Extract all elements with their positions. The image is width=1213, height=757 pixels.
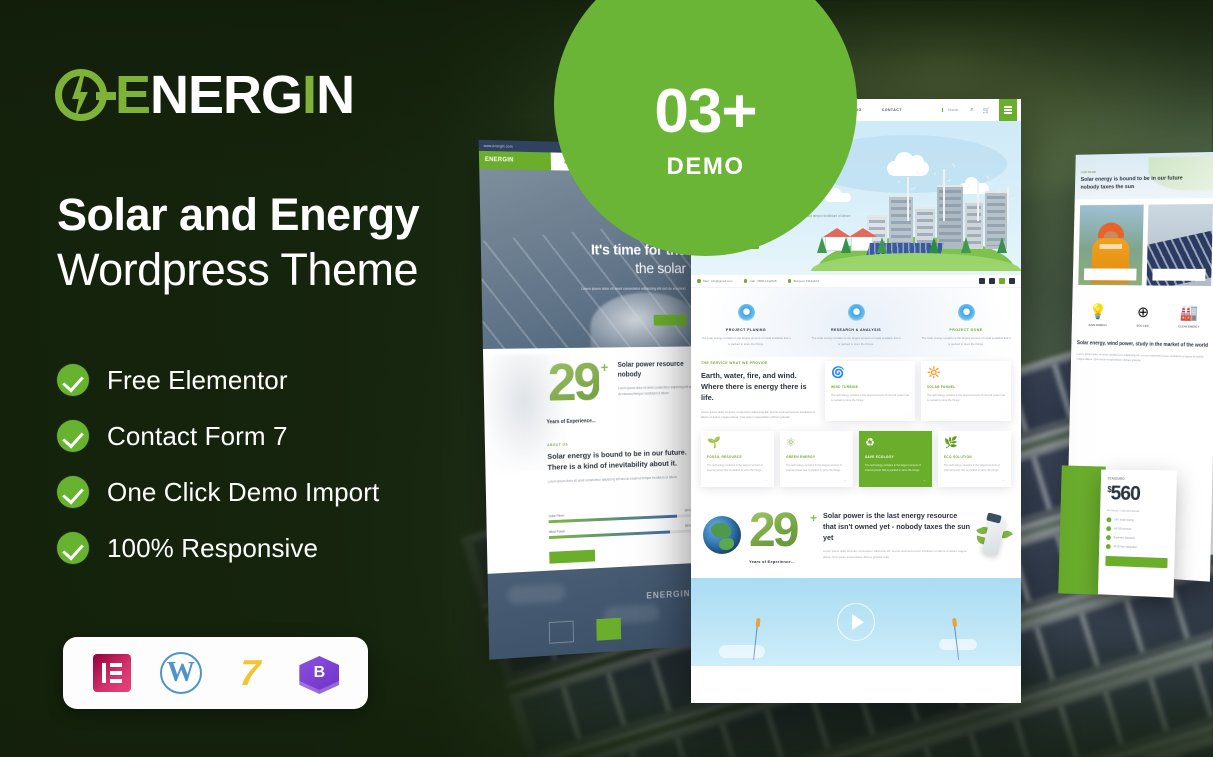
- left-content-column: ENERGIN Solar and Energy Wordpress Theme…: [55, 0, 525, 757]
- experience-label: Years of Experience...: [749, 559, 815, 564]
- video-section: [691, 578, 1021, 666]
- service-card[interactable]: ⚛ GREEN ENERGY The technology contains i…: [780, 431, 853, 487]
- services-lower-grid: 🌱 FOSSIL RESOURCE The technology contain…: [691, 431, 1021, 497]
- check-circle-icon: [57, 532, 89, 564]
- left-side-title: Solar power resource nobody: [617, 360, 693, 381]
- right-icon-row: 💡SAVE ENERGY ⊕ECO LIFE 🏭CLEAN ENERGY: [1072, 291, 1213, 335]
- logo-letter-i: I: [302, 65, 316, 125]
- wind-turbine-icon: [1007, 187, 1009, 221]
- service-card[interactable]: 🌿 ECO SOLUTION The technology contains i…: [938, 431, 1011, 487]
- wind-turbine-icon: [943, 169, 945, 221]
- experience-counter: 29 + Years of Experience...: [749, 507, 815, 564]
- left-hero-cta-button[interactable]: [654, 315, 687, 326]
- left-side-text: Solar power resource nobody Lorem ipsum …: [617, 360, 693, 398]
- progress-label: Wind Power: [549, 529, 566, 534]
- eco-battery-icon: [979, 513, 1009, 557]
- linkedin-icon[interactable]: [979, 278, 985, 284]
- recycle-icon: ♻: [865, 438, 926, 449]
- right-title: Solar energy is bound to be in our futur…: [1080, 174, 1184, 192]
- left-about-block: ABOUT US Solar energy is bound to be in …: [547, 439, 695, 485]
- progress-label: Solar Panel: [548, 514, 564, 519]
- services-card-grid: 🌀 WIND TURBINE The technology contains i…: [825, 361, 1011, 421]
- process-step: PROJECT DONE The solar energy contains i…: [911, 304, 1021, 347]
- page-title: Solar and Energy Wordpress Theme: [57, 188, 517, 296]
- right-body: Solar energy, wind power, study in the m…: [1071, 332, 1213, 373]
- feature-label: Free Elementor: [107, 365, 288, 396]
- service-card-title: WIND TURBINE: [831, 385, 909, 389]
- bootstrap-glyph: B: [299, 656, 339, 690]
- check-circle-icon: [57, 364, 89, 396]
- footer-card: [549, 621, 574, 644]
- feature-label: One Click Demo Import: [107, 477, 379, 508]
- left-experience-label: Years of Experience...: [547, 418, 596, 425]
- step-text: The solar energy contains is the largest…: [811, 336, 901, 347]
- service-card-text: The technology contains is the largest a…: [707, 463, 768, 473]
- icon-label: CLEAN ENERGY: [1169, 324, 1208, 329]
- contact-form-7-icon: 7: [228, 651, 272, 695]
- progress-bar: Solar Panel90%: [548, 508, 690, 523]
- process-step: RESEARCH & ANALYSIS The solar energy con…: [801, 304, 911, 347]
- service-card-text: The technology contains is the largest a…: [944, 463, 1005, 473]
- wind-turbine-icon: [907, 177, 909, 221]
- services-title: Earth, water, fire, and wind. Where ther…: [701, 370, 817, 403]
- services-kicker: THE SERVICE WHAT WE PROVIDE: [701, 361, 817, 365]
- experience-number: 29: [749, 507, 815, 555]
- service-card-highlighted[interactable]: ♻ SAVE ECOLOGY The technology contains i…: [859, 431, 932, 487]
- pricing-feature: All 20 free integration: [1106, 544, 1168, 551]
- info-phone-label: Call : 0800-1212015: [750, 279, 777, 283]
- search-input[interactable]: Search...: [942, 108, 962, 112]
- left-about-paragraph: Lorem ipsum dolor sit amet consectetur a…: [548, 473, 696, 484]
- experience-plus: +: [810, 511, 817, 525]
- bootstrap-icon: B: [297, 651, 341, 695]
- feature-item-free-elementor: Free Elementor: [57, 352, 517, 408]
- wind-turbine-icon: 🌀: [831, 368, 909, 379]
- info-address: Burgoon 2112ab13: [788, 279, 819, 283]
- pricing-subtitle: Per Month / Unlimited access: [1107, 508, 1169, 515]
- pricing-feature-label: Business Standard: [1114, 536, 1135, 540]
- step-title: RESEARCH & ANALYSIS: [811, 328, 901, 332]
- left-hero-paragraph: Lorem ipsum dolor sit amet consectetur a…: [540, 285, 686, 291]
- process-step: PROJECT PLANING The solar energy contain…: [691, 304, 801, 347]
- logo-letters-nerg: NERG: [150, 65, 302, 125]
- pricing-buy-button[interactable]: [1105, 556, 1167, 568]
- globe-icon: [703, 516, 741, 554]
- photo-worker-vest: [1078, 205, 1143, 286]
- leaf-icon: ⚛: [786, 438, 847, 449]
- pricing-card[interactable]: STANDARD $560 Per Month / Unlimited acce…: [1098, 470, 1177, 598]
- step-dot-icon: [848, 304, 865, 321]
- services-text: THE SERVICE WHAT WE PROVIDE Earth, water…: [701, 361, 817, 421]
- info-address-label: Burgoon 2112ab13: [794, 279, 819, 283]
- service-card-text: The technology contains is the largest a…: [831, 393, 909, 403]
- experience-text: Solar power is the last energy resource …: [823, 510, 971, 561]
- navbar-right-tools: Search... ⌕ 🛒: [942, 99, 1021, 121]
- wind-turbine-icon: [977, 181, 979, 221]
- arrow-right-icon: →: [1001, 411, 1005, 416]
- pricing-feature: Business Standard: [1106, 535, 1168, 542]
- services-section: THE SERVICE WHAT WE PROVIDE Earth, water…: [691, 357, 1021, 431]
- icon-card: 💡SAVE ENERGY: [1079, 304, 1117, 327]
- elementor-icon: [90, 651, 134, 695]
- left-hero-title-2: the solar: [635, 260, 686, 277]
- info-email[interactable]: Mail : info@gmail.com: [697, 279, 733, 283]
- icon-label: SAVE ENERGY: [1079, 323, 1116, 328]
- check-circle-icon: [57, 476, 89, 508]
- search-placeholder: Search...: [948, 108, 962, 112]
- progress-value: 90%: [685, 508, 691, 512]
- experience-section: 29 + Years of Experience... Solar power …: [691, 497, 1021, 578]
- feature-label: 100% Responsive: [107, 533, 318, 564]
- experience-title: Solar power is the last energy resource …: [823, 510, 971, 543]
- feature-item-contact-form-7: Contact Form 7: [57, 408, 517, 464]
- demo-count: 03+: [654, 81, 756, 143]
- feature-list: Free Elementor Contact Form 7 One Click …: [57, 352, 517, 576]
- left-read-more-button[interactable]: [549, 550, 595, 564]
- cart-icon[interactable]: 🛒: [983, 107, 990, 114]
- logo-letter-n: N: [316, 65, 354, 125]
- nav-item-contact[interactable]: CONTACT: [882, 108, 902, 112]
- facebook-icon[interactable]: [989, 278, 995, 284]
- pricing-amount: $560: [1107, 484, 1170, 505]
- lightning-bolt-circle-icon: [55, 69, 107, 121]
- service-card-title: SOLAR PANNEL: [927, 385, 1005, 389]
- right-body-title: Solar energy, wind power, study in the m…: [1077, 340, 1210, 350]
- step-title: PROJECT DONE: [921, 328, 1011, 332]
- service-card[interactable]: 🌀 WIND TURBINE The technology contains i…: [825, 361, 915, 421]
- fossil-icon: 🌱: [707, 438, 768, 449]
- step-title: PROJECT PLANING: [701, 328, 791, 332]
- service-card-text: The technology contains is the largest a…: [865, 463, 926, 473]
- promo-banner: www.energin.com ENERGIN HOME ABOUT PAGES…: [0, 0, 1213, 757]
- magnifier-icon[interactable]: ⌕: [970, 107, 973, 114]
- step-dot-icon: [958, 304, 975, 321]
- arrow-right-icon: →: [843, 477, 847, 482]
- feature-item-responsive: 100% Responsive: [57, 520, 517, 576]
- icon-card: ⊕ECO LIFE: [1124, 305, 1162, 328]
- eco-circle-icon: ⊕: [1124, 305, 1162, 320]
- brand-logo: ENERGIN: [55, 68, 354, 122]
- info-email-label: Mail : info@gmail.com: [703, 279, 733, 283]
- lightbulb-icon: 💡: [1079, 304, 1117, 319]
- solar-panel-icon: 🔆: [927, 368, 1005, 379]
- step-text: The solar energy contains is the largest…: [701, 336, 791, 347]
- left-experience-plus: +: [600, 359, 608, 375]
- check-circle-icon: [57, 420, 89, 452]
- left-footer-brand: ENERGIN: [646, 588, 690, 600]
- step-dot-icon: [738, 304, 755, 321]
- pricing-feature-label: 24/7 Solar energy: [1114, 519, 1134, 522]
- left-about-title: Solar energy is bound to be in our futur…: [547, 447, 695, 474]
- cloud-icon: [719, 645, 765, 658]
- play-button-icon[interactable]: [837, 603, 875, 641]
- brand-logo-text: ENERGIN: [115, 68, 354, 122]
- pricing-value: 560: [1110, 483, 1140, 505]
- info-phone[interactable]: Call : 0800-1212015: [744, 279, 777, 283]
- service-card-text: The technology contains is the largest a…: [927, 393, 1005, 403]
- step-text: The solar energy contains is the largest…: [921, 336, 1011, 347]
- pricing-feature: All 100 services: [1106, 526, 1168, 533]
- right-hero: OUR TEAM Solar energy is bound to be in …: [1075, 152, 1213, 200]
- cf7-glyph: 7: [239, 655, 262, 691]
- demo-label: DEMO: [667, 153, 745, 181]
- right-kicker: OUR TEAM: [1081, 168, 1185, 174]
- photo-solar-panel-carry: [1146, 204, 1213, 286]
- footer-green-card: [596, 618, 621, 641]
- pricing-feature-label: All 100 services: [1114, 528, 1132, 531]
- wordpress-icon: W: [159, 651, 203, 695]
- process-section: PROJECT PLANING The solar energy contain…: [691, 288, 1021, 357]
- right-team-photos: [1073, 198, 1213, 292]
- left-side-paragraph: Lorem ipsum dolor sit amet consectetur a…: [618, 384, 694, 397]
- left-about-kicker: ABOUT US: [547, 439, 695, 447]
- arrow-right-icon: →: [764, 477, 768, 482]
- service-card-title: FOSSIL RESOURCE: [707, 455, 768, 459]
- right-hero-text: OUR TEAM Solar energy is bound to be in …: [1080, 168, 1184, 192]
- tech-badge-bar: W 7 B: [63, 637, 368, 709]
- service-card[interactable]: 🔆 SOLAR PANNEL The technology contains i…: [921, 361, 1011, 421]
- left-progress-bars: Solar Panel90% Wind Power85%: [548, 508, 691, 546]
- service-card-title: ECO SOLUTION: [944, 455, 1005, 459]
- twitter-icon[interactable]: [1009, 278, 1015, 284]
- feature-label: Contact Form 7: [107, 421, 288, 452]
- services-paragraph: Lorem ipsum dolor sit amet, consectetur …: [701, 410, 817, 421]
- icon-card: 🏭CLEAN ENERGY: [1169, 305, 1208, 328]
- social-icons: [979, 278, 1015, 284]
- left-experience-number: 29: [547, 355, 599, 409]
- headline-line-1: Solar and Energy: [57, 188, 517, 241]
- service-card-title: SAVE ECOLOGY: [865, 455, 926, 459]
- logo-letter-e: E: [115, 65, 150, 125]
- icon-label: ECO LIFE: [1124, 324, 1162, 329]
- center-info-bar: Mail : info@gmail.com Call : 0800-121201…: [691, 275, 1021, 288]
- pricing-feature: 24/7 Solar energy: [1106, 517, 1168, 524]
- wind-turbines-icon: 🏭: [1170, 305, 1209, 320]
- right-body-paragraph: Lorem ipsum dolor sit amet, consectetur …: [1076, 351, 1209, 365]
- headline-line-2: Wordpress Theme: [57, 243, 517, 296]
- progress-bar: Wind Power85%: [549, 524, 691, 539]
- service-card-title: GREEN ENERGY: [786, 455, 847, 459]
- experience-paragraph: Lorem ipsum dolor sit amet, consectetur …: [823, 549, 971, 560]
- pricing-plan-name: STANDARD: [1108, 477, 1170, 482]
- instagram-icon[interactable]: [999, 278, 1005, 284]
- hamburger-icon[interactable]: [999, 99, 1017, 121]
- eco-hand-icon: 🌿: [944, 438, 1005, 449]
- wordpress-glyph: W: [160, 652, 202, 694]
- service-card[interactable]: 🌱 FOSSIL RESOURCE The technology contain…: [701, 431, 774, 487]
- arrow-right-icon: →: [905, 411, 909, 416]
- arrow-right-icon: →: [1001, 477, 1005, 482]
- pricing-feature-label: All 20 free integration: [1113, 545, 1137, 549]
- arrow-right-icon: →: [922, 477, 926, 482]
- service-card-text: The technology contains is the largest a…: [786, 463, 847, 473]
- feature-item-one-click-demo-import: One Click Demo Import: [57, 464, 517, 520]
